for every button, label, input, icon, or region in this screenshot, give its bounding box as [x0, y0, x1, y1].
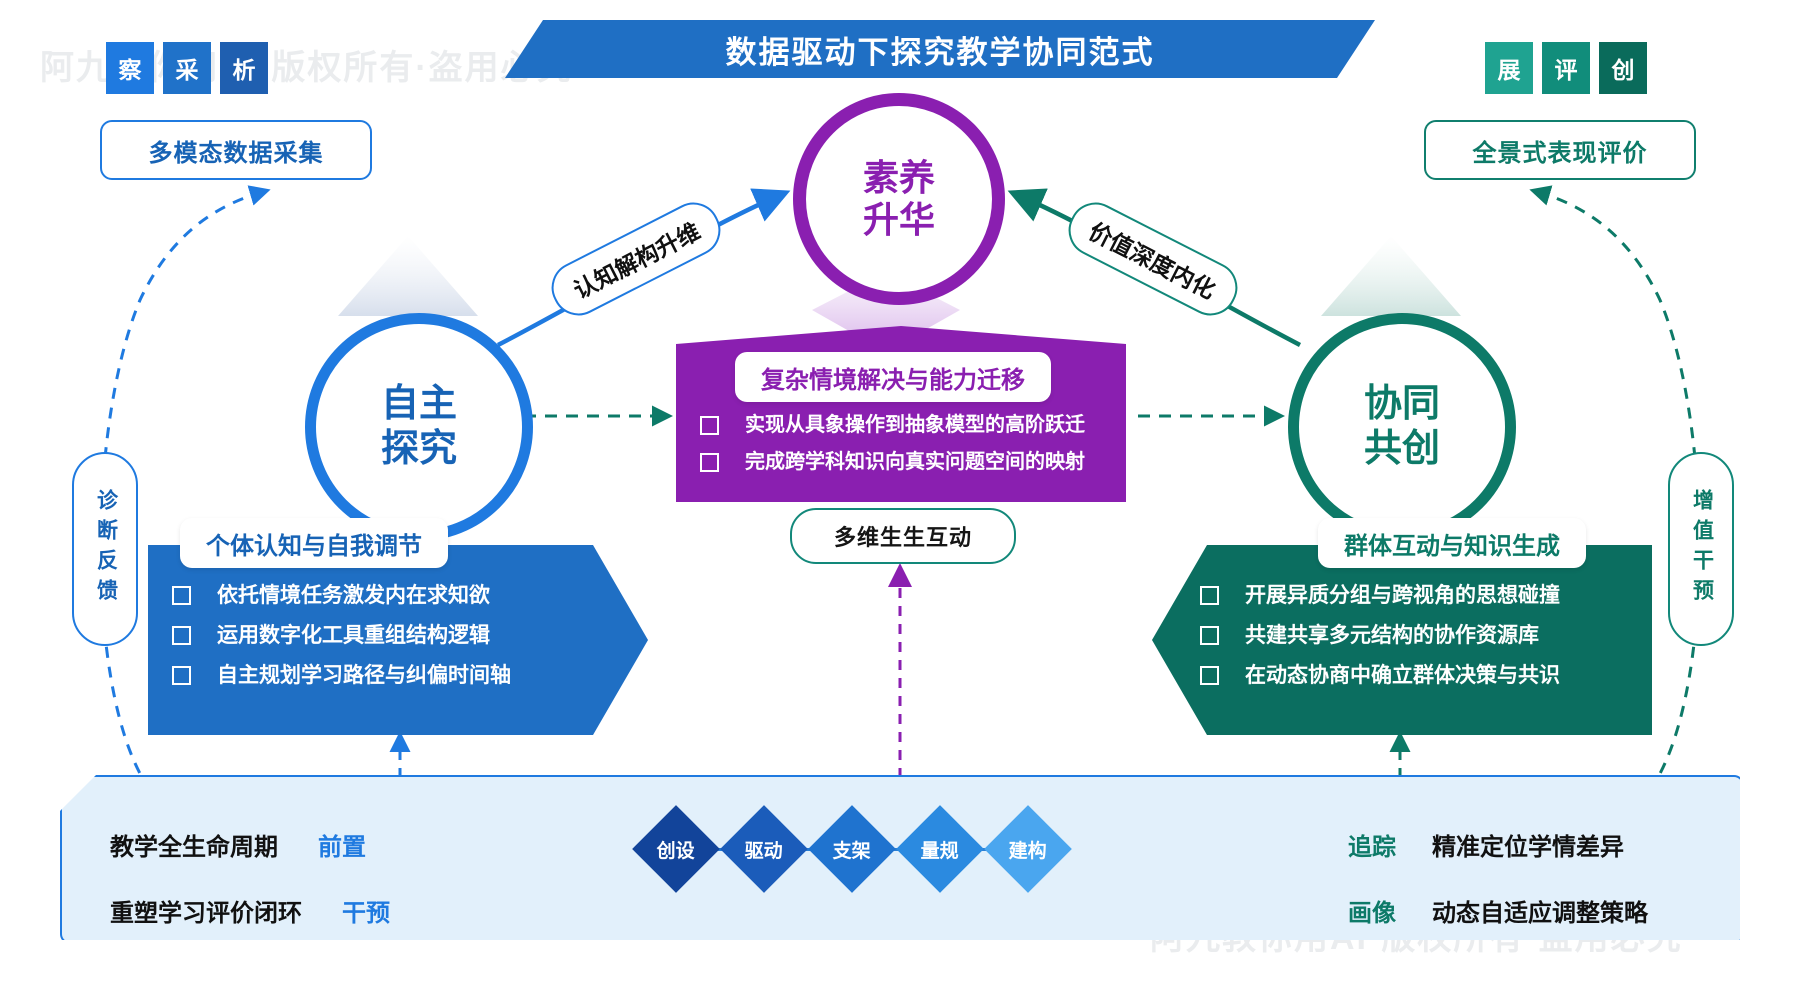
panel-title-left: 个体认知与自我调节 [180, 518, 448, 568]
checkbox-icon [172, 666, 191, 685]
row-label: 教学全生命周期 [110, 827, 278, 862]
list-item-text: 在动态协商中确立群体决策与共识 [1245, 665, 1560, 686]
list-item-text: 共建共享多元结构的协作资源库 [1245, 625, 1539, 646]
list-item: 实现从具象操作到抽象模型的高阶跃迁 [700, 415, 1085, 435]
diagram-canvas: 阿九教你用AI·版权所有·盗用必究 阿九教你用AI·版权所有·盗用必究 数据驱动… [0, 0, 1800, 990]
diamond-label: 建构 [1009, 835, 1047, 862]
circle-line-1: 素养 [863, 157, 935, 199]
list-item-text: 自主规划学习路径与纠偏时间轴 [217, 665, 511, 686]
list-item: 开展异质分组与跨视角的思想碰撞 [1200, 585, 1560, 606]
pill-panoramic-evaluation[interactable]: 全景式表现评价 [1424, 120, 1696, 180]
page-title: 数据驱动下探究教学协同范式 [505, 20, 1375, 78]
badge-label: 创 [1612, 51, 1635, 85]
checkbox-icon [172, 626, 191, 645]
right-badge-row: 展 评 创 [1485, 42, 1647, 94]
row-accent: 前置 [318, 827, 366, 862]
row-label: 重塑学习评价闭环 [110, 893, 302, 928]
badge-label: 评 [1555, 51, 1578, 85]
list-item-text: 完成跨学科知识向真实问题空间的映射 [745, 452, 1085, 472]
badge-label: 析 [233, 51, 256, 85]
circle-literacy-sublimation[interactable]: 素养 升华 [793, 93, 1005, 305]
panel-title-center: 复杂情境解决与能力迁移 [735, 352, 1051, 402]
left-badge-row: 察 采 析 [106, 42, 268, 94]
list-item-text: 运用数字化工具重组结构逻辑 [217, 625, 490, 646]
checkbox-icon [700, 453, 719, 472]
list-item-text: 实现从具象操作到抽象模型的高阶跃迁 [745, 415, 1085, 435]
capsule-value-added-intervention[interactable]: 增值干预 [1668, 452, 1734, 646]
list-item: 自主规划学习路径与纠偏时间轴 [172, 665, 511, 686]
row-accent: 干预 [342, 893, 390, 928]
badge-cai[interactable]: 采 [163, 42, 211, 94]
checkbox-icon [700, 416, 719, 435]
diamond-zhijia[interactable]: 支架 [808, 805, 896, 893]
circle-collaborative-cocreation[interactable]: 协同 共创 [1288, 313, 1516, 541]
row-label: 精准定位学情差异 [1432, 827, 1624, 862]
diamond-qudong[interactable]: 驱动 [720, 805, 808, 893]
bottom-right-row-1: 追踪 精准定位学情差异 [1348, 827, 1624, 862]
pill-multidimensional-interaction[interactable]: 多维生生互动 [790, 508, 1016, 564]
badge-xi[interactable]: 析 [220, 42, 268, 94]
badge-zhan[interactable]: 展 [1485, 42, 1533, 94]
process-diamond-chain: 创设 驱动 支架 量规 建构 [645, 818, 1059, 880]
diamond-label: 量规 [921, 835, 959, 862]
badge-cha[interactable]: 察 [106, 42, 154, 94]
arc-label-value-internalization: 价值深度内化 [1060, 194, 1247, 325]
diamond-liangui[interactable]: 量规 [896, 805, 984, 893]
diamond-label: 支架 [833, 835, 871, 862]
diamond-label: 创设 [657, 835, 695, 862]
checkbox-icon [1200, 666, 1219, 685]
circle-line-1: 自主 [381, 382, 457, 427]
diamond-jiangou[interactable]: 建构 [984, 805, 1072, 893]
row-accent: 追踪 [1348, 827, 1396, 862]
capsule-text-left: 诊断反馈 [92, 489, 119, 609]
badge-label: 采 [176, 51, 199, 85]
list-item: 共建共享多元结构的协作资源库 [1200, 625, 1560, 646]
bottom-left-row-1: 教学全生命周期 前置 [110, 827, 366, 862]
capsule-text-right: 增值干预 [1688, 489, 1715, 609]
bullet-list-right: 开展异质分组与跨视角的思想碰撞 共建共享多元结构的协作资源库 在动态协商中确立群… [1200, 585, 1560, 705]
checkbox-icon [1200, 586, 1219, 605]
list-item-text: 开展异质分组与跨视角的思想碰撞 [1245, 585, 1560, 606]
bullet-list-left: 依托情境任务激发内在求知欲 运用数字化工具重组结构逻辑 自主规划学习路径与纠偏时… [172, 585, 511, 705]
diamond-label: 驱动 [745, 835, 783, 862]
circle-autonomous-inquiry[interactable]: 自主 探究 [305, 313, 533, 541]
arc-label-cognitive-deconstruction: 认知解构升维 [543, 194, 730, 325]
badge-label: 察 [119, 51, 142, 85]
list-item-text: 依托情境任务激发内在求知欲 [217, 585, 490, 606]
list-item: 依托情境任务激发内在求知欲 [172, 585, 511, 606]
badge-label: 展 [1498, 51, 1521, 85]
capsule-diagnostic-feedback[interactable]: 诊断反馈 [72, 452, 138, 646]
bottom-right-row-2: 画像 动态自适应调整策略 [1348, 893, 1648, 928]
badge-chuang[interactable]: 创 [1599, 42, 1647, 94]
bottom-left-row-2: 重塑学习评价闭环 干预 [110, 893, 390, 928]
row-label: 动态自适应调整策略 [1432, 893, 1648, 928]
circle-line-2: 共创 [1364, 427, 1440, 472]
circle-line-1: 协同 [1364, 382, 1440, 427]
bullet-list-center: 实现从具象操作到抽象模型的高阶跃迁 完成跨学科知识向真实问题空间的映射 [700, 415, 1085, 489]
diamond-chuangshe[interactable]: 创设 [632, 805, 720, 893]
circle-line-2: 升华 [863, 199, 935, 241]
list-item: 运用数字化工具重组结构逻辑 [172, 625, 511, 646]
pill-multimodal-collection[interactable]: 多模态数据采集 [100, 120, 372, 180]
checkbox-icon [172, 586, 191, 605]
list-item: 在动态协商中确立群体决策与共识 [1200, 665, 1560, 686]
panel-title-right: 群体互动与知识生成 [1318, 518, 1586, 568]
badge-ping[interactable]: 评 [1542, 42, 1590, 94]
list-item: 完成跨学科知识向真实问题空间的映射 [700, 452, 1085, 472]
checkbox-icon [1200, 626, 1219, 645]
circle-line-2: 探究 [381, 427, 457, 472]
row-accent: 画像 [1348, 893, 1396, 928]
